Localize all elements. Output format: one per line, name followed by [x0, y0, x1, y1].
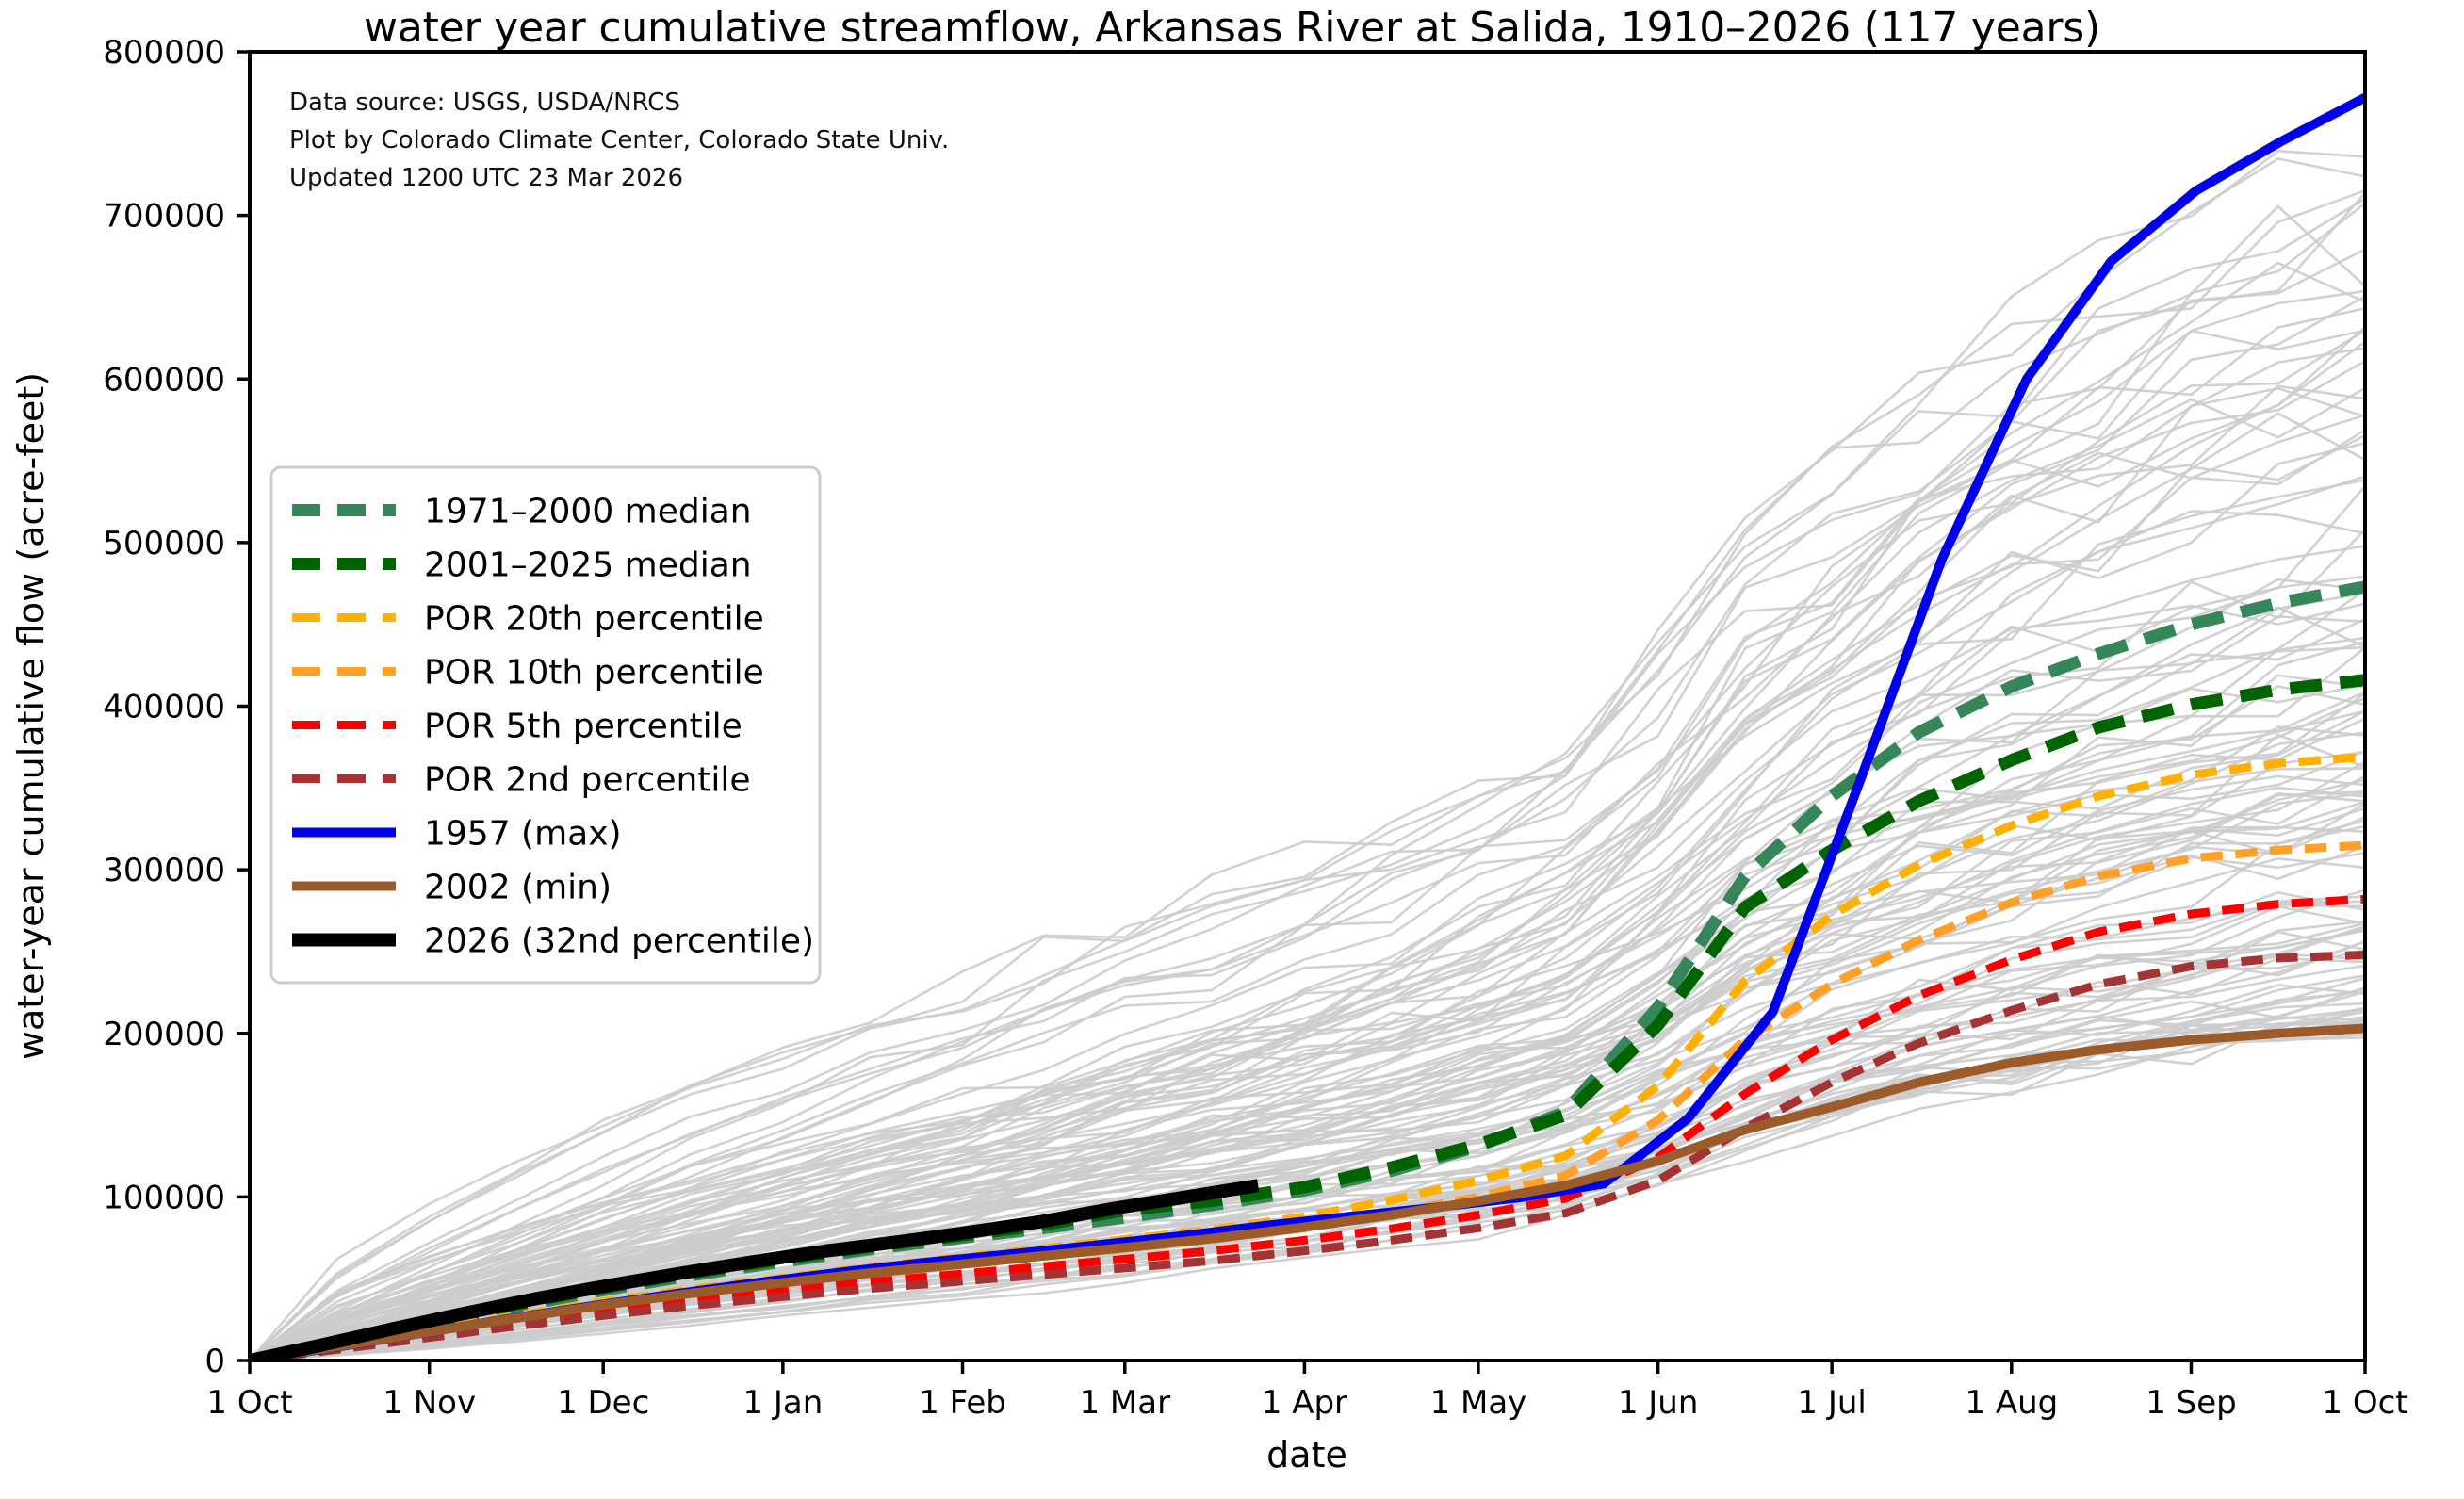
x-tick-label: 1 Jul: [1797, 1384, 1866, 1422]
x-tick-label: 1 Oct: [2322, 1384, 2407, 1422]
x-axis-label: date: [1266, 1434, 1347, 1475]
x-tick-label: 1 May: [1430, 1384, 1527, 1422]
legend-label: POR 20th percentile: [424, 600, 764, 639]
y-tick-label: 100000: [103, 1179, 225, 1216]
annotation-line: Data source: USGS, USDA/NRCS: [289, 89, 680, 117]
y-tick-label: 200000: [103, 1016, 225, 1053]
y-tick-label: 400000: [103, 689, 225, 726]
y-tick-label: 700000: [103, 198, 225, 236]
x-tick-label: 1 Dec: [557, 1384, 649, 1422]
x-tick-label: 1 Jun: [1618, 1384, 1699, 1422]
legend-label: POR 10th percentile: [424, 654, 764, 692]
x-tick-label: 1 Oct: [206, 1384, 292, 1422]
y-tick-label: 0: [204, 1343, 225, 1380]
legend-label: 2001–2025 median: [424, 546, 752, 585]
x-tick-label: 1 Sep: [2146, 1384, 2237, 1422]
y-tick-label: 300000: [103, 852, 225, 889]
x-tick-label: 1 Jan: [742, 1384, 823, 1422]
annotation-group: Data source: USGS, USDA/NRCSPlot by Colo…: [289, 89, 949, 192]
legend-label: POR 5th percentile: [424, 708, 742, 746]
y-tick-label: 500000: [103, 525, 225, 562]
legend-label: 1957 (max): [424, 815, 622, 854]
x-tick-label: 1 Apr: [1262, 1384, 1347, 1422]
annotation-line: Plot by Colorado Climate Center, Colorad…: [289, 126, 949, 155]
y-tick-label: 600000: [103, 361, 225, 399]
x-tick-label: 1 Feb: [919, 1384, 1006, 1422]
y-axis-label: water-year cumulative flow (acre-feet): [10, 372, 52, 1060]
x-tick-label: 1 Mar: [1079, 1384, 1170, 1422]
legend-label: 2002 (min): [424, 869, 612, 907]
legend-label: POR 2nd percentile: [424, 761, 751, 800]
x-tick-label: 1 Nov: [383, 1384, 476, 1422]
x-tick-label: 1 Aug: [1965, 1384, 2058, 1422]
legend-group: 1971–2000 median2001–2025 medianPOR 20th…: [271, 467, 820, 983]
chart-figure: water year cumulative streamflow, Arkans…: [0, 0, 2464, 1499]
legend-label: 1971–2000 median: [424, 493, 752, 531]
chart-canvas: 0100000200000300000400000500000600000700…: [0, 0, 2464, 1499]
y-tick-label: 800000: [103, 34, 225, 72]
annotation-line: Updated 1200 UTC 23 Mar 2026: [289, 164, 683, 192]
legend-label: 2026 (32nd percentile): [424, 922, 814, 961]
